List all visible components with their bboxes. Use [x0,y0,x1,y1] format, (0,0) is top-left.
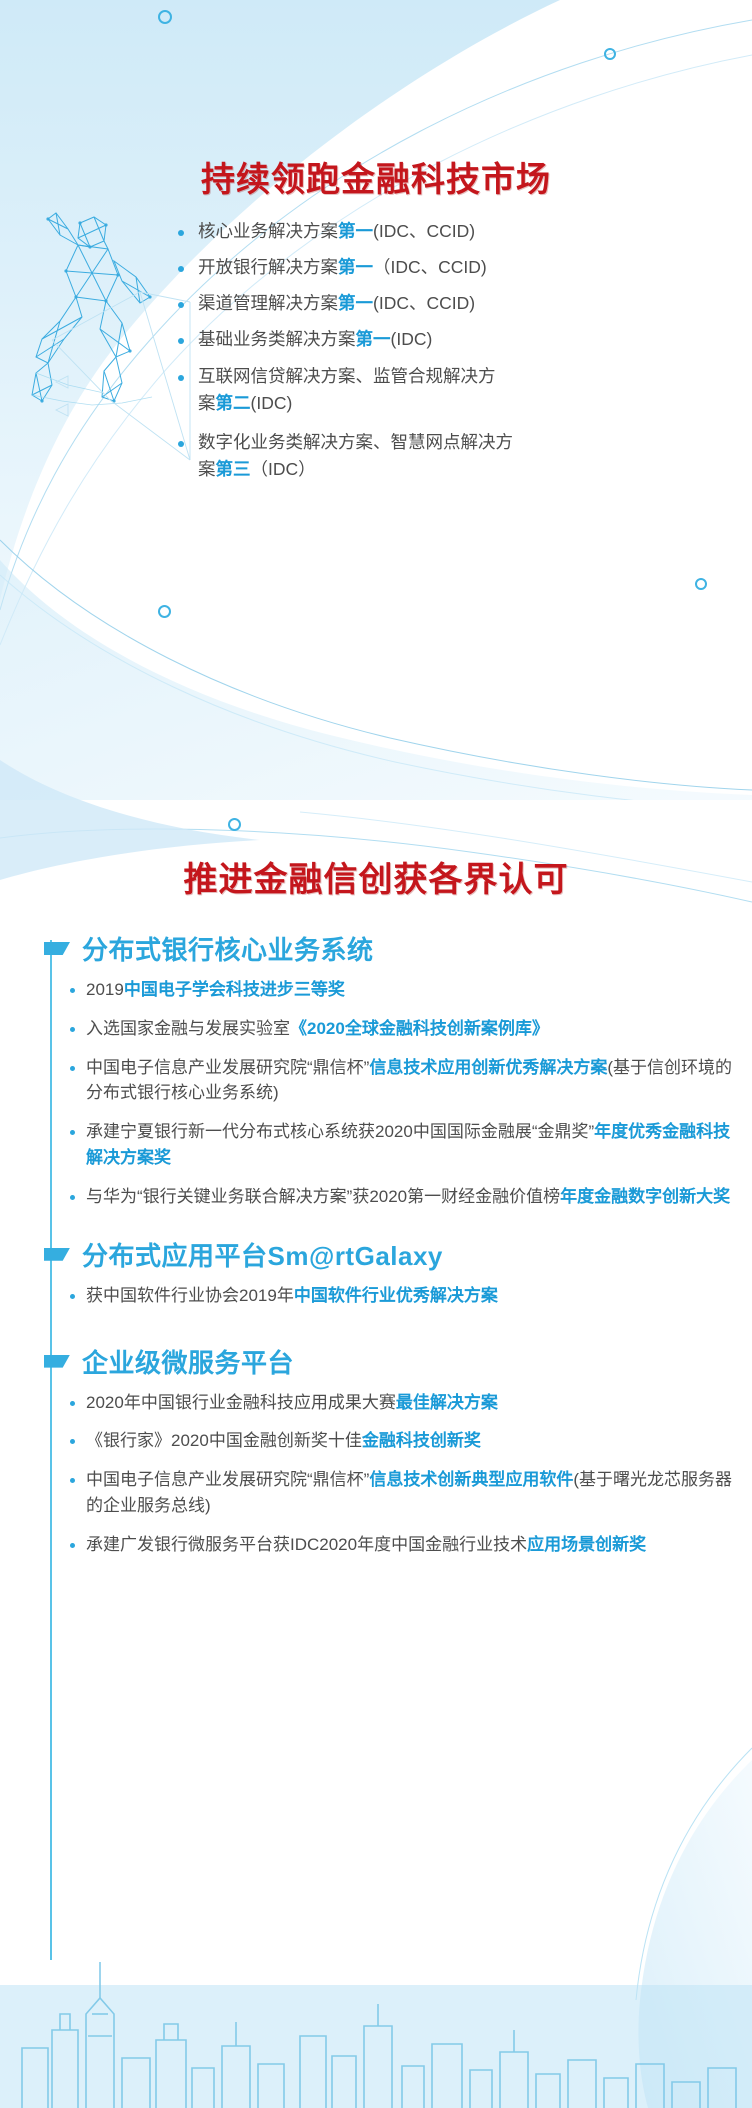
item-part: 承建广发银行微服务平台获IDC2020年度中国金融行业技术 [86,1535,527,1554]
item-tail: （IDC） [251,459,316,479]
item-part-highlight: 应用场景创新奖 [527,1535,646,1554]
flag-marker-icon [44,1248,70,1261]
bullet-dot-icon [178,375,184,381]
group-enterprise-microservice-platform: 企业级微服务平台 2020年中国银行业金融科技应用成果大赛最佳解决方案 《银行家… [0,1343,752,1558]
item-part-highlight: 金融科技创新奖 [362,1431,481,1450]
list-item: 2019中国电子学会科技进步三等奖 [70,977,732,1003]
item-rank: 第一 [338,293,373,313]
item-tail: (IDC) [391,329,433,349]
bullet-dot-icon [70,1294,75,1299]
recognition-groups: 分布式银行核心业务系统 2019中国电子学会科技进步三等奖 入选国家金融与发展实… [0,930,752,1571]
list-item: 互联网信贷解决方案、监管合规解决方案第二(IDC) [178,363,738,417]
item-part-highlight: 中国电子学会科技进步三等奖 [124,980,345,999]
bullet-dot-icon [178,302,184,308]
group-header: 分布式应用平台Sm@rtGalaxy [0,1236,752,1273]
list-item: 入选国家金融与发展实验室《2020全球金融科技创新案例库》 [70,1016,732,1042]
group-title: 分布式银行核心业务系统 [82,930,374,967]
section-market-leadership: 持续领跑金融科技市场 [0,0,752,810]
bullet-dot-icon [70,1066,75,1071]
item-part-highlight: 信息技术创新典型应用软件 [369,1470,573,1489]
item-lead: 开放银行解决方案 [198,257,338,277]
item-part: 2020年中国银行业金融科技应用成果大赛 [86,1393,396,1412]
group-title: 企业级微服务平台 [82,1343,294,1380]
item-rank: 第一 [338,257,373,277]
list-item: 渠道管理解决方案第一(IDC、CCID) [178,290,738,317]
list-item: 开放银行解决方案第一（IDC、CCID) [178,254,738,281]
bullet-dot-icon [70,1439,75,1444]
group-header: 分布式银行核心业务系统 [0,930,752,967]
group-title: 分布式应用平台Sm@rtGalaxy [82,1236,443,1273]
item-part: 中国电子信息产业发展研究院“鼎信杯” [86,1470,369,1489]
section1-title: 持续领跑金融科技市场 [0,152,752,201]
item-rank: 第二 [216,393,251,413]
list-item: 数字化业务类解决方案、智慧网点解决方案第三（IDC） [178,429,738,483]
item-part: 获中国软件行业协会2019年 [86,1286,294,1305]
group-item-list: 获中国软件行业协会2019年中国软件行业优秀解决方案 [0,1283,752,1309]
bullet-dot-icon [70,1130,75,1135]
bullet-dot-icon [70,1027,75,1032]
section-fintech-recognition: 推进金融信创获各界认可 分布式银行核心业务系统 2019中国电子学会科技进步三等… [0,810,752,2108]
item-part-highlight: 信息技术应用创新优秀解决方案 [369,1058,607,1077]
list-item: 承建宁夏银行新一代分布式核心系统获2020中国国际金融展“金鼎奖”年度优秀金融科… [70,1119,732,1171]
item-part: 中国电子信息产业发展研究院“鼎信杯” [86,1058,369,1077]
list-item: 2020年中国银行业金融科技应用成果大赛最佳解决方案 [70,1390,732,1416]
group-item-list: 2019中国电子学会科技进步三等奖 入选国家金融与发展实验室《2020全球金融科… [0,977,752,1210]
group-smart-galaxy-platform: 分布式应用平台Sm@rtGalaxy 获中国软件行业协会2019年中国软件行业优… [0,1236,752,1309]
bullet-dot-icon [70,1195,75,1200]
item-rank: 第三 [216,459,251,479]
flag-marker-icon [44,942,70,955]
item-part-highlight: 年度金融数字创新大奖 [560,1187,730,1206]
list-item: 承建广发银行微服务平台获IDC2020年度中国金融行业技术应用场景创新奖 [70,1532,732,1558]
bullet-dot-icon [178,266,184,272]
item-part: 2019 [86,980,124,999]
bullet-dot-icon [70,988,75,993]
item-part-highlight: 中国软件行业优秀解决方案 [294,1286,498,1305]
list-item: 获中国软件行业协会2019年中国软件行业优秀解决方案 [70,1283,732,1309]
item-rank: 第一 [356,329,391,349]
bullet-dot-icon [70,1401,75,1406]
section2-title: 推进金融信创获各界认可 [0,852,752,901]
item-tail: (IDC) [251,393,293,413]
bullet-dot-icon [178,441,184,447]
infographic-poster: 持续领跑金融科技市场 [0,0,752,2108]
list-item: 与华为“银行关键业务联合解决方案”获2020第一财经金融价值榜年度金融数字创新大… [70,1184,732,1210]
item-lead: 渠道管理解决方案 [198,293,338,313]
list-item: 基础业务类解决方案第一(IDC) [178,326,738,353]
market-leadership-list: 核心业务解决方案第一(IDC、CCID) 开放银行解决方案第一（IDC、CCID… [178,218,738,492]
item-part: 与华为“银行关键业务联合解决方案”获2020第一财经金融价值榜 [86,1187,560,1206]
group-distributed-core-banking: 分布式银行核心业务系统 2019中国电子学会科技进步三等奖 入选国家金融与发展实… [0,930,752,1210]
group-header: 企业级微服务平台 [0,1343,752,1380]
bullet-dot-icon [178,338,184,344]
item-lead: 基础业务类解决方案 [198,329,356,349]
item-tail: （IDC、CCID) [373,257,487,277]
item-tail: (IDC、CCID) [373,221,475,241]
list-item: 中国电子信息产业发展研究院“鼎信杯”信息技术应用创新优秀解决方案(基于信创环境的… [70,1055,732,1107]
flag-marker-icon [44,1355,70,1368]
list-item: 中国电子信息产业发展研究院“鼎信杯”信息技术创新典型应用软件(基于曙光龙芯服务器… [70,1467,732,1519]
item-part: 《银行家》2020中国金融创新奖十佳 [86,1431,362,1450]
item-part: 入选国家金融与发展实验室 [86,1019,290,1038]
item-rank: 第一 [338,221,373,241]
bullet-dot-icon [70,1478,75,1483]
group-item-list: 2020年中国银行业金融科技应用成果大赛最佳解决方案 《银行家》2020中国金融… [0,1390,752,1558]
list-item: 《银行家》2020中国金融创新奖十佳金融科技创新奖 [70,1428,732,1454]
bullet-dot-icon [70,1543,75,1548]
item-part-highlight: 《2020全球金融科技创新案例库》 [290,1019,549,1038]
item-part: 承建宁夏银行新一代分布式核心系统获2020中国国际金融展“金鼎奖” [86,1122,594,1141]
item-lead: 核心业务解决方案 [198,221,338,241]
item-tail: (IDC、CCID) [373,293,475,313]
item-part-highlight: 最佳解决方案 [396,1393,498,1412]
list-item: 核心业务解决方案第一(IDC、CCID) [178,218,738,245]
bullet-dot-icon [178,230,184,236]
